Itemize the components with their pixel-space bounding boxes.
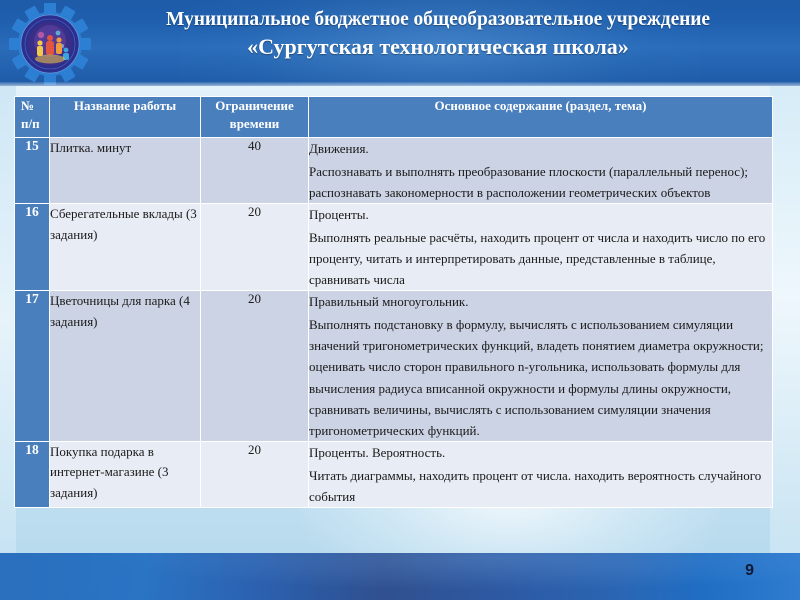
cell-content: Проценты. Вероятность. Читать диаграммы,…: [309, 441, 773, 507]
cell-content: Правильный многоугольник. Выполнять подс…: [309, 291, 773, 441]
table-row: 15 Плитка. минут 40 Движения. Распознава…: [15, 138, 773, 204]
cell-work-name: Покупка подарка в интернет-магазине (3 з…: [50, 441, 201, 507]
cell-content-detail: Распознавать и выполнять преобразование …: [309, 161, 772, 203]
cell-work-name: Плитка. минут: [50, 138, 201, 204]
slide-footer: 9: [0, 553, 800, 600]
background-right-band: [770, 86, 800, 554]
cell-number: 16: [15, 204, 50, 291]
column-header-name: Название работы: [50, 97, 201, 138]
cell-content: Движения. Распознавать и выполнять преоб…: [309, 138, 773, 204]
table-head: № п/п Название работы Ограничение времен…: [15, 97, 773, 138]
cell-content-topic: Проценты.: [309, 204, 772, 225]
column-header-number-line2: п/п: [21, 115, 49, 133]
footer-texture: [0, 553, 800, 600]
cell-content-topic: Движения.: [309, 138, 772, 159]
table-header-row: № п/п Название работы Ограничение времен…: [15, 97, 773, 138]
cell-work-name: Цветочницы для парка (4 задания): [50, 291, 201, 441]
title-line-2: «Сургутская технологическая школа»: [104, 34, 772, 60]
cell-time-limit: 40: [201, 138, 309, 204]
table-row: 18 Покупка подарка в интернет-магазине (…: [15, 441, 773, 507]
page-number: 9: [745, 562, 754, 580]
cell-work-name: Сберегательные вклады (3 задания): [50, 204, 201, 291]
cell-content: Проценты. Выполнять реальные расчёты, на…: [309, 204, 773, 291]
page-title: Муниципальное бюджетное общеобразователь…: [104, 8, 772, 60]
column-header-time: Ограничение времени: [201, 97, 309, 138]
cell-number: 18: [15, 441, 50, 507]
title-line-1: Муниципальное бюджетное общеобразователь…: [104, 8, 772, 31]
cell-content-detail: Выполнять подстановку в формулу, вычисля…: [309, 314, 772, 440]
column-header-number: № п/п: [15, 97, 50, 138]
cell-content-topic: Правильный многоугольник.: [309, 291, 772, 312]
slide-header: Муниципальное бюджетное общеобразователь…: [0, 0, 800, 86]
slide: Муниципальное бюджетное общеобразователь…: [0, 0, 800, 600]
cell-number: 15: [15, 138, 50, 204]
cell-content-topic: Проценты. Вероятность.: [309, 442, 772, 463]
table-body: 15 Плитка. минут 40 Движения. Распознава…: [15, 138, 773, 508]
cell-time-limit: 20: [201, 291, 309, 441]
cell-time-limit: 20: [201, 204, 309, 291]
column-header-time-line2: времени: [230, 116, 280, 131]
cell-number: 17: [15, 291, 50, 441]
exam-works-table-wrapper: № п/п Название работы Ограничение времен…: [14, 96, 772, 508]
column-header-time-line1: Ограничение: [215, 98, 294, 113]
column-header-content: Основное содержание (раздел, тема): [309, 97, 773, 138]
table-row: 16 Сберегательные вклады (3 задания) 20 …: [15, 204, 773, 291]
cell-time-limit: 20: [201, 441, 309, 507]
school-gear-emblem-icon: [8, 3, 92, 85]
table-row: 17 Цветочницы для парка (4 задания) 20 П…: [15, 291, 773, 441]
column-header-number-line1: №: [21, 97, 49, 115]
cell-content-detail: Выполнять реальные расчёты, находить про…: [309, 227, 772, 290]
exam-works-table: № п/п Название работы Ограничение времен…: [14, 96, 773, 508]
cell-content-detail: Читать диаграммы, находить процент от чи…: [309, 465, 772, 507]
